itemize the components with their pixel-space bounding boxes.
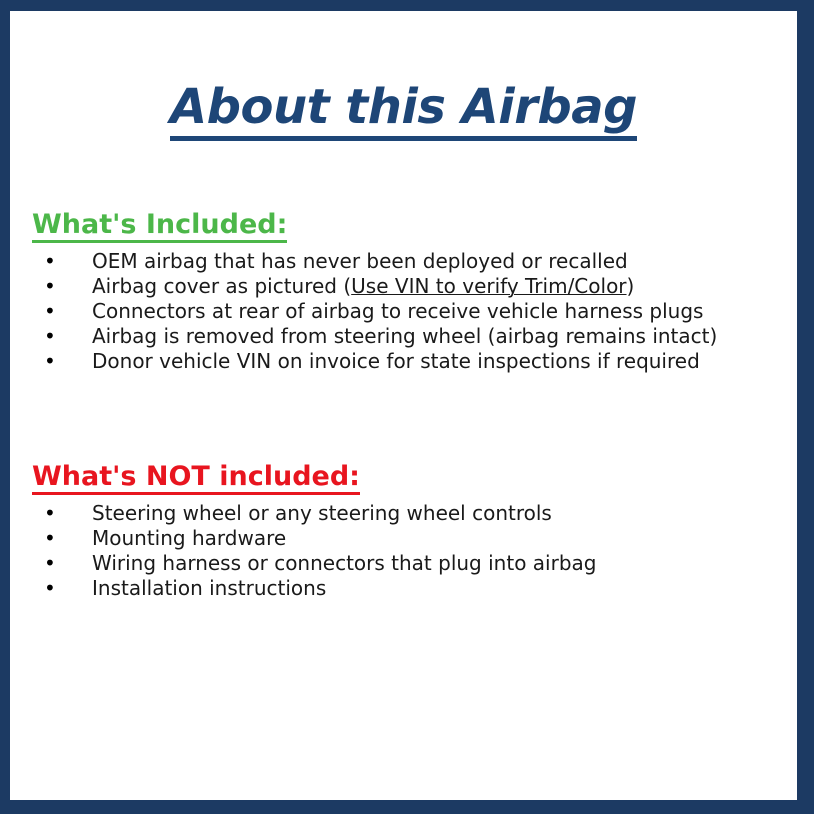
- section-whats-not-included: What's NOT included: •Steering wheel or …: [32, 462, 777, 601]
- list-item-label: Airbag cover as pictured (Use VIN to ver…: [92, 274, 634, 298]
- list-item-label: Wiring harness or connectors that plug i…: [92, 551, 596, 575]
- whats-not-included-heading: What's NOT included:: [32, 462, 777, 495]
- list-item-label: Installation instructions: [92, 576, 326, 600]
- bullet-icon: •: [44, 274, 56, 299]
- list-item-prefix: Airbag cover as pictured (: [92, 274, 351, 298]
- bullet-icon: •: [44, 249, 56, 274]
- list-item: •Donor vehicle VIN on invoice for state …: [32, 349, 777, 374]
- bullet-icon: •: [44, 324, 56, 349]
- border-top: [0, 0, 814, 11]
- list-item: •Wiring harness or connectors that plug …: [32, 551, 777, 576]
- list-item-label: Connectors at rear of airbag to receive …: [92, 299, 703, 323]
- bullet-icon: •: [44, 576, 56, 601]
- bullet-icon: •: [44, 299, 56, 324]
- bullet-icon: •: [44, 349, 56, 374]
- list-item-label: Airbag is removed from steering wheel (a…: [92, 324, 717, 348]
- whats-included-heading: What's Included:: [32, 210, 777, 243]
- border-left: [0, 0, 10, 803]
- border-right: [797, 0, 814, 814]
- list-item-suffix: ): [627, 274, 635, 298]
- section-whats-included: What's Included: •OEM airbag that has ne…: [32, 210, 777, 374]
- list-item-label: Donor vehicle VIN on invoice for state i…: [92, 349, 700, 373]
- list-item: •OEM airbag that has never been deployed…: [32, 249, 777, 274]
- bullet-icon: •: [44, 551, 56, 576]
- whats-not-included-list: •Steering wheel or any steering wheel co…: [32, 501, 777, 601]
- page-title: About this Airbag: [10, 79, 797, 141]
- border-bottom: [0, 800, 814, 814]
- list-item-label: Steering wheel or any steering wheel con…: [92, 501, 552, 525]
- content-sheet: About this Airbag What's Included: •OEM …: [10, 11, 797, 800]
- list-item: •Steering wheel or any steering wheel co…: [32, 501, 777, 526]
- list-item-label: Mounting hardware: [92, 526, 286, 550]
- about-this-airbag-page: About this Airbag What's Included: •OEM …: [0, 0, 814, 814]
- list-item: •Airbag cover as pictured (Use VIN to ve…: [32, 274, 777, 299]
- whats-not-included-heading-text: What's NOT included:: [32, 462, 360, 495]
- list-item: •Installation instructions: [32, 576, 777, 601]
- list-item: •Mounting hardware: [32, 526, 777, 551]
- list-item: •Connectors at rear of airbag to receive…: [32, 299, 777, 324]
- list-item-underlined-note: Use VIN to verify Trim/Color: [351, 274, 626, 298]
- whats-included-list: •OEM airbag that has never been deployed…: [32, 249, 777, 374]
- list-item: •Airbag is removed from steering wheel (…: [32, 324, 777, 349]
- bullet-icon: •: [44, 501, 56, 526]
- whats-included-heading-text: What's Included:: [32, 210, 287, 243]
- list-item-label: OEM airbag that has never been deployed …: [92, 249, 628, 273]
- page-title-text: About this Airbag: [170, 79, 637, 141]
- bullet-icon: •: [44, 526, 56, 551]
